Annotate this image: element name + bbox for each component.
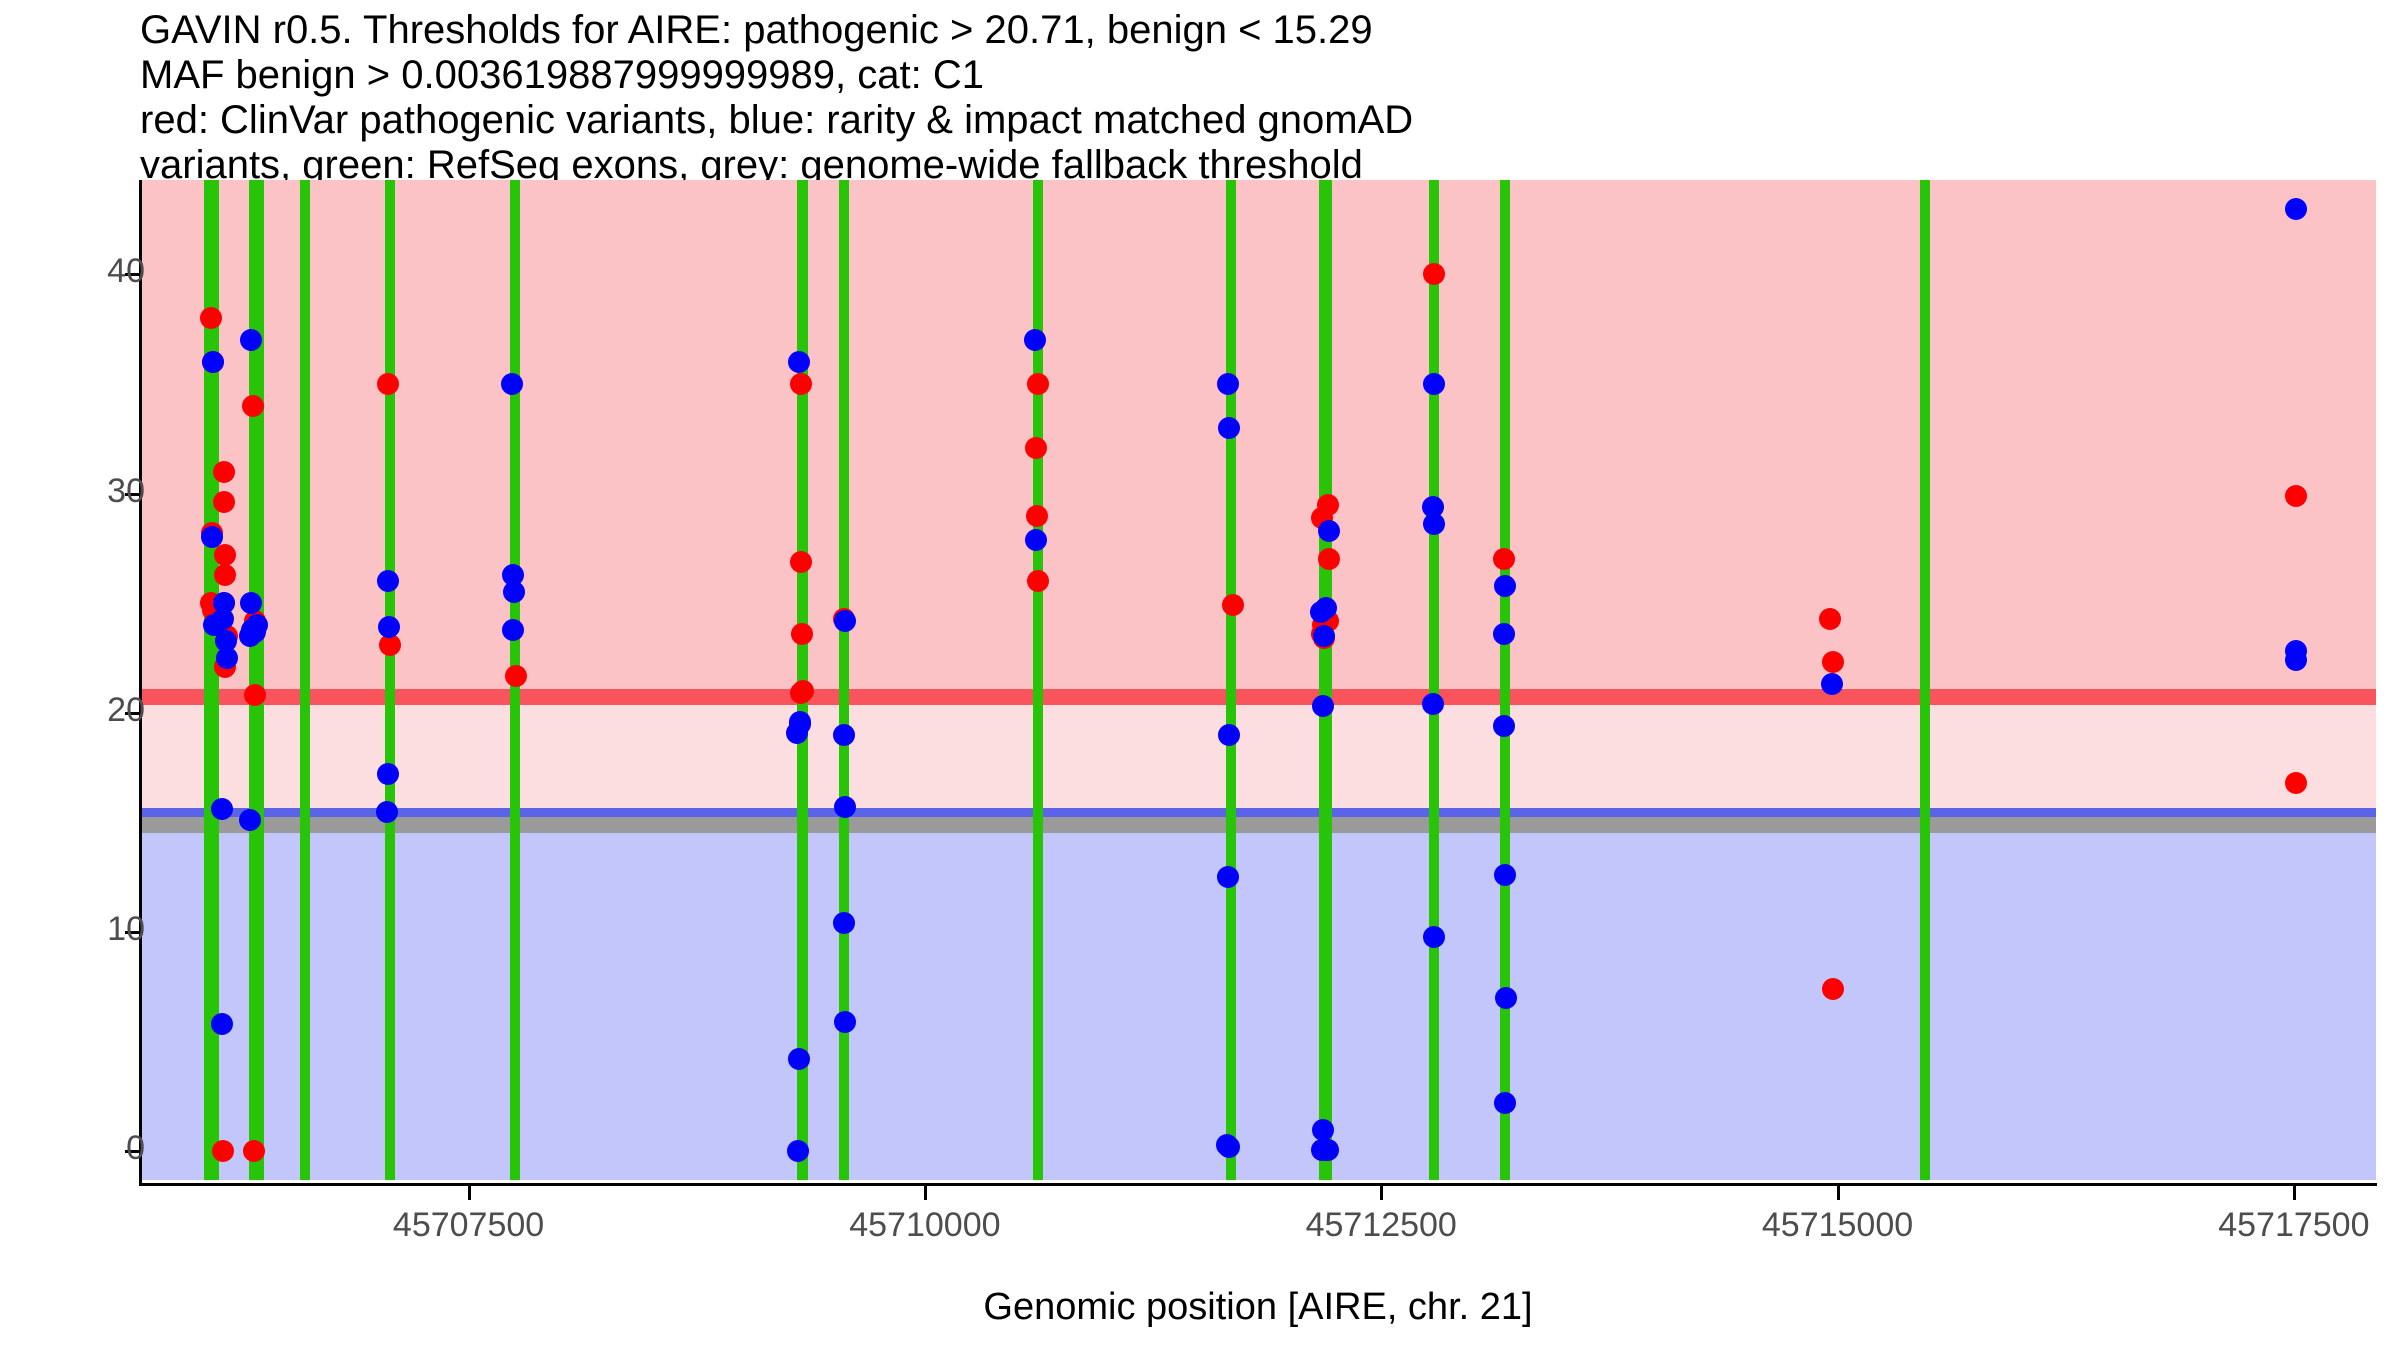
exon-band	[1319, 180, 1332, 1180]
data-point-pathogenic	[213, 461, 235, 483]
data-point-pathogenic	[1317, 494, 1339, 516]
data-point-pathogenic	[1026, 505, 1048, 527]
x-tick-label: 45717500	[2164, 1206, 2400, 1245]
data-point-pathogenic	[790, 682, 812, 704]
region-pathogenic	[140, 180, 2376, 697]
y-tick-label: 30	[25, 472, 145, 511]
exon-band	[1226, 180, 1236, 1180]
data-point-pathogenic	[1025, 437, 1047, 459]
data-point-pathogenic	[1819, 608, 1841, 630]
x-tick-label: 45707500	[339, 1206, 599, 1245]
data-point-pathogenic	[791, 623, 813, 645]
data-point-benign	[502, 619, 524, 641]
region-ambiguous	[140, 697, 2376, 816]
chart-title: GAVIN r0.5. Thresholds for AIRE: pathoge…	[140, 8, 2340, 188]
exon-band	[1500, 180, 1510, 1180]
data-point-benign	[239, 809, 261, 831]
region-benign	[140, 825, 2376, 1180]
data-point-pathogenic	[790, 373, 812, 395]
y-tick-label: 10	[25, 910, 145, 949]
data-point-benign	[834, 796, 856, 818]
data-point-benign	[1218, 724, 1240, 746]
data-point-pathogenic	[1822, 978, 1844, 1000]
exon-band	[1920, 180, 1930, 1180]
x-tick	[1837, 1186, 1840, 1200]
y-axis-line	[139, 180, 142, 1184]
exon-band	[385, 180, 395, 1180]
y-tick-label: 40	[25, 252, 145, 291]
threshold-line-pathogenic	[140, 689, 2376, 705]
data-point-benign	[202, 351, 224, 373]
data-point-benign	[1312, 695, 1334, 717]
x-axis-line	[139, 1183, 2377, 1186]
data-point-pathogenic	[214, 544, 236, 566]
data-point-benign	[1217, 373, 1239, 395]
data-point-benign	[1218, 1136, 1240, 1158]
title-line-1: GAVIN r0.5. Thresholds for AIRE: pathoge…	[140, 8, 2340, 53]
chart-root: GAVIN r0.5. Thresholds for AIRE: pathoge…	[0, 0, 2400, 1350]
x-tick	[924, 1186, 927, 1200]
data-point-benign	[244, 621, 266, 643]
data-point-benign	[1494, 575, 1516, 597]
y-tick-label: 20	[25, 691, 145, 730]
data-point-pathogenic	[505, 665, 527, 687]
data-point-benign	[203, 614, 225, 636]
data-point-benign	[1025, 529, 1047, 551]
data-point-benign	[1423, 373, 1445, 395]
data-point-pathogenic	[2285, 772, 2307, 794]
threshold-line-genome-wide-fallback	[140, 817, 2376, 833]
data-point-pathogenic	[214, 564, 236, 586]
data-point-benign	[833, 724, 855, 746]
x-tick	[468, 1186, 471, 1200]
exon-band	[1429, 180, 1439, 1180]
data-point-pathogenic	[242, 395, 264, 417]
data-point-benign	[2285, 649, 2307, 671]
data-point-benign	[833, 912, 855, 934]
data-point-benign	[1318, 520, 1340, 542]
data-point-benign	[1218, 417, 1240, 439]
y-tick-label: 0	[25, 1129, 145, 1168]
data-point-benign	[1313, 625, 1335, 647]
data-point-pathogenic	[1027, 373, 1049, 395]
x-tick-label: 45710000	[795, 1206, 1055, 1245]
x-tick-label: 45715000	[1708, 1206, 1968, 1245]
data-point-benign	[216, 647, 238, 669]
data-point-benign	[834, 1011, 856, 1033]
plot-panel	[140, 180, 2376, 1180]
x-tick	[2293, 1186, 2296, 1200]
data-point-benign	[789, 713, 811, 735]
title-line-3: red: ClinVar pathogenic variants, blue: …	[140, 98, 2340, 143]
data-point-pathogenic	[377, 373, 399, 395]
x-tick-label: 45712500	[1251, 1206, 1511, 1245]
data-point-pathogenic	[790, 551, 812, 573]
data-point-pathogenic	[2285, 485, 2307, 507]
data-point-benign	[1423, 926, 1445, 948]
exon-band	[300, 180, 310, 1180]
data-point-benign	[1315, 597, 1337, 619]
title-line-2: MAF benign > 0.003619887999999989, cat: …	[140, 53, 2340, 98]
data-point-benign	[2285, 198, 2307, 220]
data-point-benign	[834, 610, 856, 632]
data-point-benign	[1312, 1119, 1334, 1141]
x-axis-title: Genomic position [AIRE, chr. 21]	[140, 1286, 2376, 1329]
data-point-benign	[788, 351, 810, 373]
data-point-benign	[376, 801, 398, 823]
x-tick	[1380, 1186, 1383, 1200]
